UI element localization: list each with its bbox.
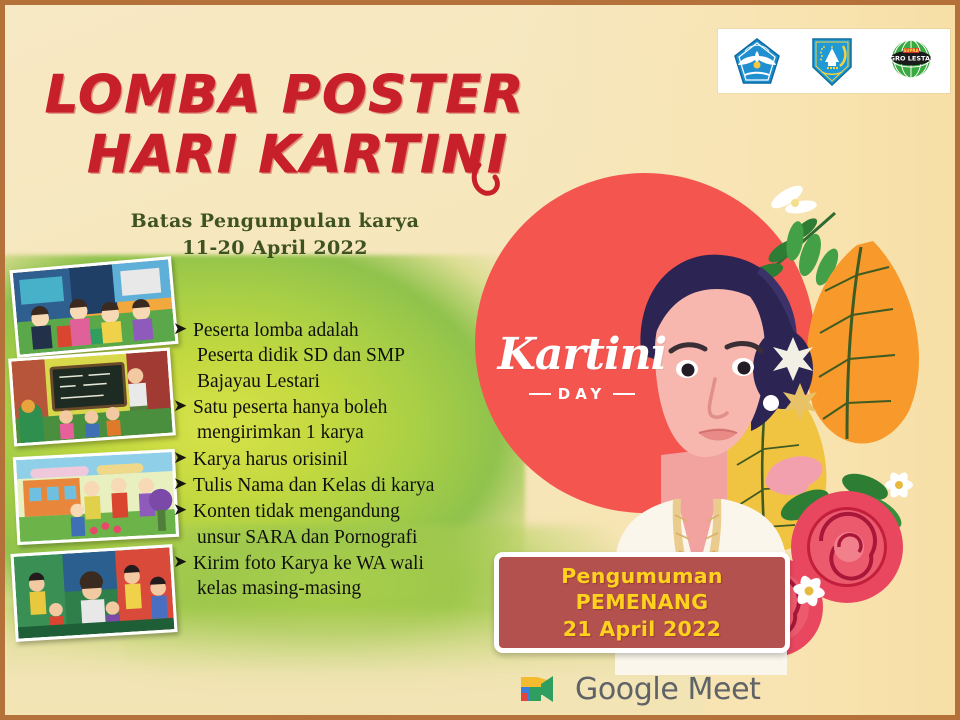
rule-text: Satu peserta hanya boleh mengirimkan 1 k…: [193, 395, 503, 446]
google-meet-camera-icon: [517, 671, 561, 707]
student-poster-thumbnails: [5, 263, 185, 663]
white-flower-top: [768, 182, 818, 216]
rule-text: Tulis Nama dan Kelas di karya: [193, 473, 503, 498]
arrow-bullet-icon: ➤: [173, 318, 193, 340]
agro-lestari-top-text: SUPRA: [904, 48, 920, 53]
rule-line: Satu peserta hanya boleh: [193, 395, 503, 420]
list-item: ➤ Tulis Nama dan Kelas di karya: [173, 473, 503, 498]
rule-line: unsur SARA dan Pornografi: [193, 525, 503, 550]
rule-line: Tulis Nama dan Kelas di karya: [193, 473, 503, 498]
kartini-day-label: DAY: [558, 385, 607, 403]
rules-list: ➤ Peserta lomba adalah Peserta didik SD …: [173, 318, 503, 603]
rule-line: Konten tidak mengandung: [193, 499, 503, 524]
kartini-script-text: Kartini: [497, 333, 667, 377]
list-item: ➤ Peserta lomba adalah Peserta didik SD …: [173, 318, 503, 394]
student-poster-thumbnail-3: [13, 449, 179, 545]
list-item: ➤ Kirim foto Karya ke WA wali kelas masi…: [173, 551, 503, 602]
logo-panel: AGRO LESTARI SUPRA: [718, 29, 950, 93]
google-meet-label: Google Meet: [575, 672, 761, 707]
agro-lestari-globe-logo: AGRO LESTARI SUPRA: [886, 36, 936, 86]
dash-right: [613, 393, 635, 395]
announcement-line-2: PEMENANG: [576, 589, 709, 616]
student-poster-thumbnail-1: [9, 256, 178, 358]
google-meet-branding: Google Meet: [517, 667, 761, 711]
deadline-date: 11-20 April 2022: [5, 235, 545, 262]
dash-left: [529, 393, 551, 395]
arrow-bullet-icon: ➤: [173, 473, 193, 495]
arrow-bullet-icon: ➤: [173, 447, 193, 469]
list-item: ➤ Karya harus orisinil: [173, 447, 503, 472]
rule-line: Kirim foto Karya ke WA wali: [193, 551, 503, 576]
kartini-day-label-row: DAY: [497, 385, 667, 403]
student-poster-thumbnail-4: [10, 544, 177, 642]
rule-text: Peserta lomba adalah Peserta didik SD da…: [193, 318, 503, 394]
announcement-line-3: 21 April 2022: [563, 616, 721, 643]
student-poster-thumbnail-2: [8, 347, 176, 446]
deadline-label: Batas Pengumpulan karya: [5, 208, 545, 235]
tut-wuri-handayani-logo: [732, 36, 782, 86]
rule-text: Kirim foto Karya ke WA wali kelas masing…: [193, 551, 503, 602]
rule-line: mengirimkan 1 karya: [193, 420, 503, 445]
title-line-1: LOMBA POSTER: [5, 65, 565, 125]
rule-line: Peserta didik SD dan SMP: [193, 343, 503, 368]
list-item: ➤ Satu peserta hanya boleh mengirimkan 1…: [173, 395, 503, 446]
poster-title: LOMBA POSTER HARI KARTINI: [5, 65, 565, 186]
announcement-line-1: Pengumuman: [561, 563, 723, 590]
rule-text: Karya harus orisinil: [193, 447, 503, 472]
rule-text: Konten tidak mengandung unsur SARA dan P…: [193, 499, 503, 550]
deadline-subtitle: Batas Pengumpulan karya 11-20 April 2022: [5, 208, 545, 262]
arrow-bullet-icon: ➤: [173, 551, 193, 573]
rule-line: Peserta lomba adalah: [193, 318, 503, 343]
rule-line: kelas masing-masing: [193, 576, 503, 601]
kartini-day-wordmark: Kartini DAY: [497, 333, 667, 403]
rule-line: Karya harus orisinil: [193, 447, 503, 472]
agro-lestari-banner-text: AGRO LESTARI: [886, 55, 936, 63]
list-item: ➤ Konten tidak mengandung unsur SARA dan…: [173, 499, 503, 550]
arrow-bullet-icon: ➤: [173, 395, 193, 417]
announcement-box: Pengumuman PEMENANG 21 April 2022: [494, 552, 790, 653]
title-line-2: HARI KARTINI: [31, 125, 565, 185]
arrow-bullet-icon: ➤: [173, 499, 193, 521]
provincial-shield-logo: [809, 36, 859, 86]
kartini-poster: Kartini DAY: [0, 0, 960, 720]
rule-line: Bajayau Lestari: [193, 369, 503, 394]
